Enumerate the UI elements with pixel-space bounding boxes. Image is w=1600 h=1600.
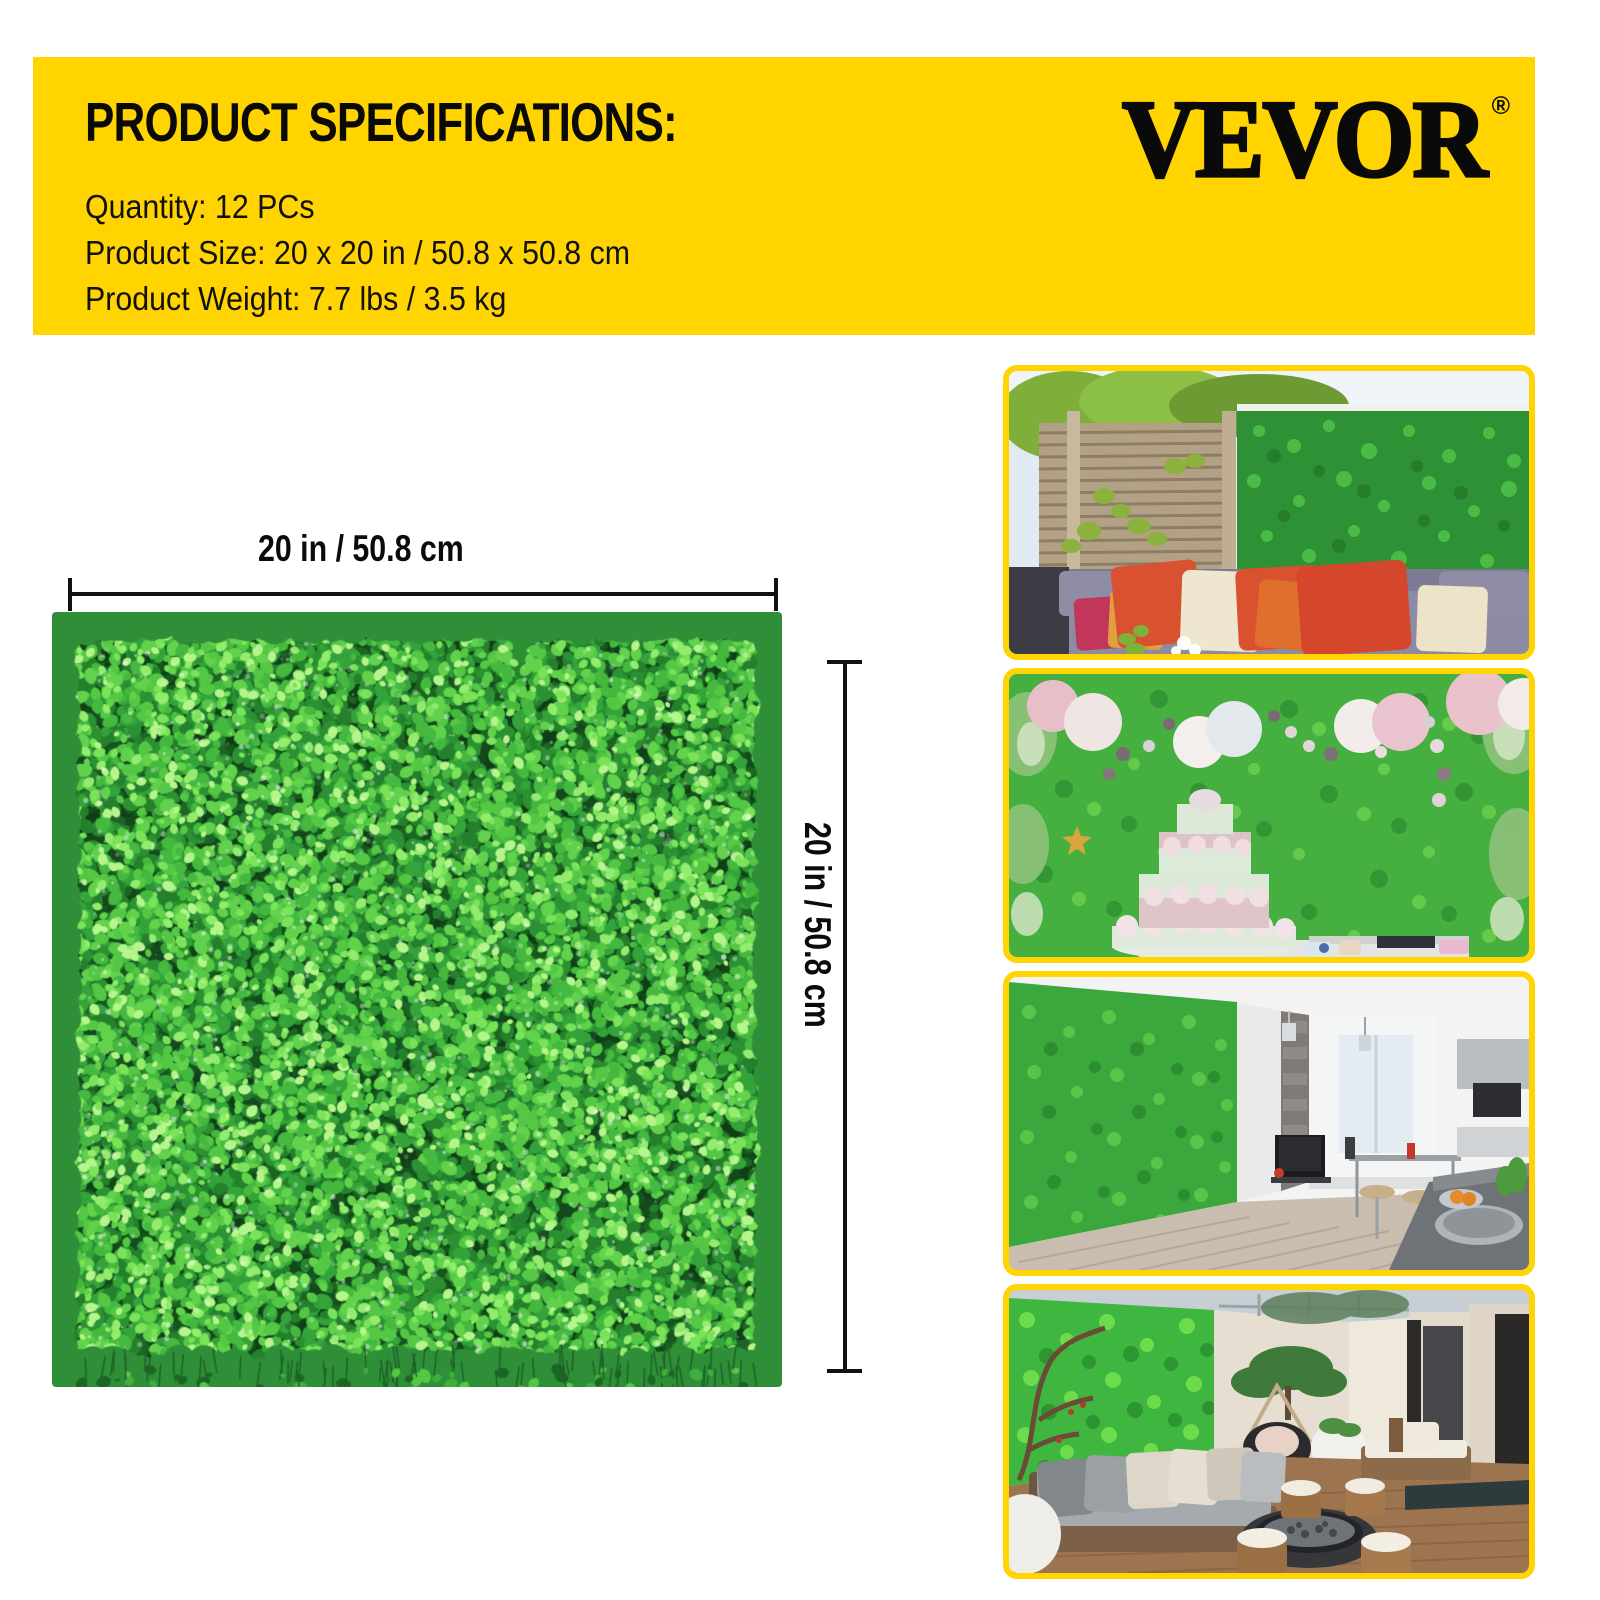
width-dimension-label: 20 in / 50.8 cm [258,528,464,570]
spec-quantity: Quantity: 12 PCs [85,184,1005,230]
product-image-boxwood-panel [52,612,782,1387]
boxwood-leaf-texture [52,612,782,1387]
width-dimension-cap-right [774,578,778,611]
registered-trademark-icon: ® [1492,94,1510,119]
scene-party-backdrop [1009,674,1529,957]
width-dimension-line [68,592,778,596]
height-dimension-cap-top [827,660,862,664]
spec-product-weight: Product Weight: 7.7 lbs / 3.5 kg [85,276,1005,322]
scene-indoor-kitchen [1009,977,1529,1270]
height-dimension-line [843,660,847,1373]
scene-outdoor-patio [1009,371,1529,654]
page-title: PRODUCT SPECIFICATIONS: [85,95,677,150]
height-dimension-cap-bottom [827,1369,862,1373]
height-dimension-label: 20 in / 50.8 cm [796,822,838,1028]
spec-product-size: Product Size: 20 x 20 in / 50.8 x 50.8 c… [85,230,1005,276]
thumbnail-courtyard-firepit-scene[interactable] [1003,1284,1535,1579]
width-dimension-cap-left [68,578,72,611]
spec-list: Quantity: 12 PCs Product Size: 20 x 20 i… [85,184,1085,322]
brand-wordmark: VEVOR [1122,88,1486,192]
vevor-logo: VEVOR ® [1122,88,1510,186]
thumbnail-outdoor-patio-sofa-scene[interactable] [1003,365,1535,660]
thumbnail-indoor-kitchen-scene[interactable] [1003,971,1535,1276]
thumbnail-party-backdrop-cake-scene[interactable] [1003,668,1535,963]
scene-courtyard-firepit [1009,1290,1529,1573]
